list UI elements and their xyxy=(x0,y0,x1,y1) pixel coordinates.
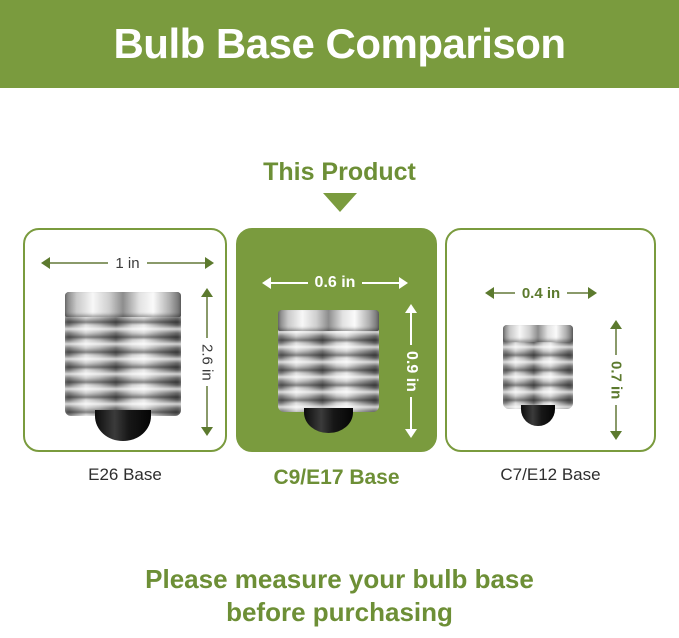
dimension-line xyxy=(147,262,205,264)
caption-c7-e12: C7/E12 Base xyxy=(445,466,656,485)
screw-base-bulb-icon xyxy=(278,310,379,432)
dimension-line xyxy=(410,313,412,345)
height-dimension-c7-e12: 0.7 in xyxy=(606,320,626,440)
dimension-line xyxy=(567,292,588,294)
dimension-line xyxy=(362,282,399,284)
width-dimension-c7-e12: 0.4 in xyxy=(485,284,597,302)
dimension-line xyxy=(206,386,208,427)
page-title: Bulb Base Comparison xyxy=(113,23,565,65)
arrow-left-icon xyxy=(262,277,271,289)
height-label: 0.9 in xyxy=(403,345,419,398)
bulb-collar xyxy=(278,310,379,331)
screw-base-bulb-icon xyxy=(65,292,181,440)
bulb-contact-tip xyxy=(304,408,352,434)
width-label: 0.6 in xyxy=(308,275,363,291)
dimension-line xyxy=(615,405,617,431)
footer-note: Please measure your bulb base before pur… xyxy=(0,563,679,630)
arrow-right-icon xyxy=(588,287,597,299)
footer-line-2: before purchasing xyxy=(0,596,679,629)
bulb-collar xyxy=(503,325,573,342)
arrow-down-icon xyxy=(405,429,417,438)
panel-c7-e12[interactable]: 0.4 in 0.7 in xyxy=(445,228,656,452)
arrow-up-icon xyxy=(610,320,622,329)
comparison-panels: 1 in 2.6 in 0.6 in xyxy=(0,228,679,452)
dimension-line xyxy=(615,329,617,355)
dimension-line xyxy=(410,397,412,429)
width-label: 0.4 in xyxy=(515,286,567,301)
footer-line-1: Please measure your bulb base xyxy=(0,563,679,596)
bulb-collar xyxy=(65,292,181,317)
dimension-line xyxy=(271,282,308,284)
arrow-right-icon xyxy=(205,257,214,269)
arrow-down-icon xyxy=(201,427,213,436)
panel-captions: E26 Base C9/E17 Base C7/E12 Base xyxy=(0,466,679,498)
this-product-callout: This Product xyxy=(0,160,679,212)
panel-e26[interactable]: 1 in 2.6 in xyxy=(23,228,227,452)
header-banner: Bulb Base Comparison xyxy=(0,0,679,88)
arrow-down-icon xyxy=(610,431,622,440)
arrow-up-icon xyxy=(201,288,213,297)
width-label: 1 in xyxy=(108,256,146,271)
arrow-right-icon xyxy=(399,277,408,289)
height-dimension-e26: 2.6 in xyxy=(197,288,217,436)
bulb-contact-tip xyxy=(521,405,555,426)
dimension-line xyxy=(50,262,108,264)
screw-base-bulb-icon xyxy=(503,325,573,425)
height-label: 0.7 in xyxy=(609,355,624,405)
triangle-down-icon xyxy=(323,193,357,212)
height-dimension-c9-e17: 0.9 in xyxy=(401,304,421,438)
dimension-line xyxy=(494,292,515,294)
bulb-contact-tip xyxy=(95,410,151,441)
arrow-left-icon xyxy=(41,257,50,269)
caption-e26: E26 Base xyxy=(23,466,227,485)
width-dimension-e26: 1 in xyxy=(41,254,214,272)
width-dimension-c9-e17: 0.6 in xyxy=(262,274,408,292)
height-label: 2.6 in xyxy=(200,338,215,387)
dimension-line xyxy=(206,297,208,338)
this-product-label: This Product xyxy=(0,160,679,185)
arrow-left-icon xyxy=(485,287,494,299)
panel-c9-e17[interactable]: 0.6 in 0.9 in xyxy=(236,228,437,452)
caption-c9-e17: C9/E17 Base xyxy=(236,466,437,489)
arrow-up-icon xyxy=(405,304,417,313)
